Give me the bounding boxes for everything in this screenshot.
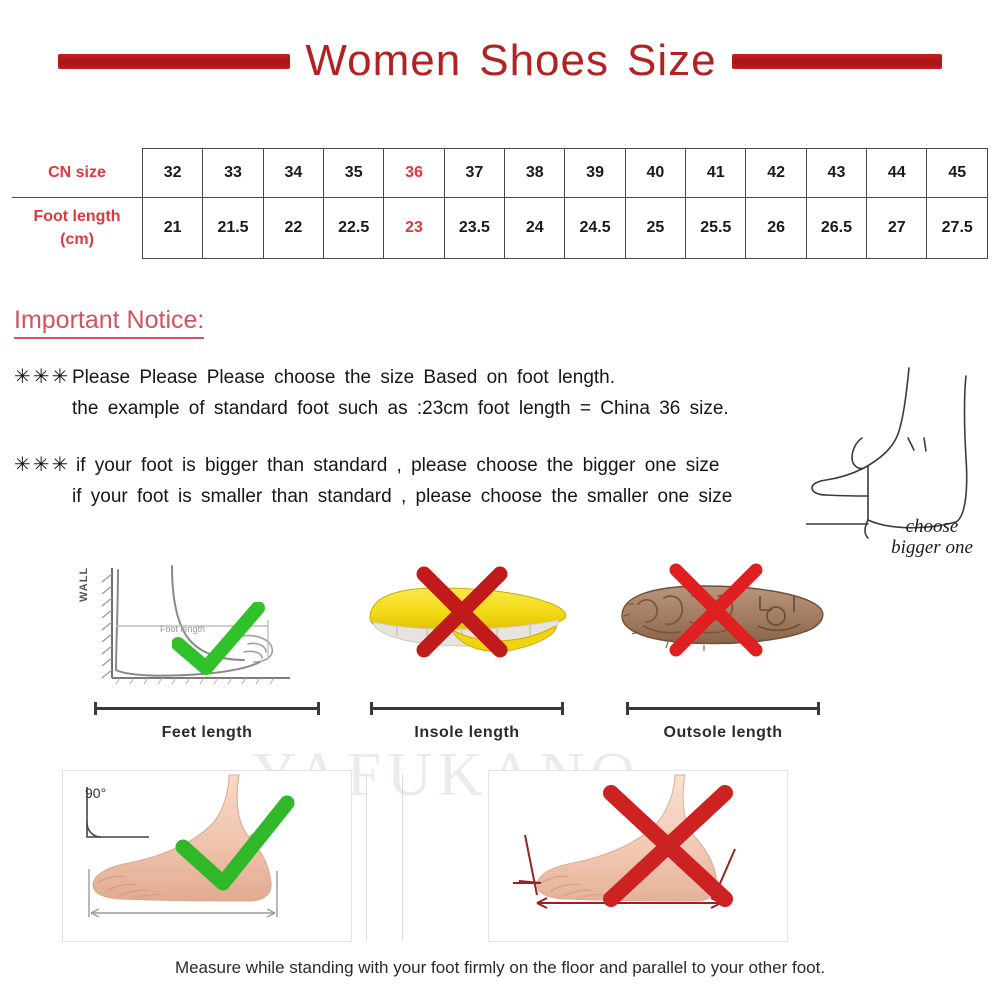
cell-cn-35: 35 xyxy=(324,149,384,198)
row-header-foot-length-line1: Foot length xyxy=(12,205,142,228)
sketch-caption-line1: choose xyxy=(862,516,1000,537)
panel-divider xyxy=(366,774,367,940)
wall-label: WALL xyxy=(78,567,90,602)
brown-outsole-icon xyxy=(608,560,838,680)
photo-incorrect-foot-position xyxy=(488,770,788,942)
cell-len-23: 23 xyxy=(384,198,444,259)
notice-group-2-line-1: ✳✳✳ if your foot is bigger than standard… xyxy=(14,450,844,481)
page-title: WomenShoesSize xyxy=(296,36,725,86)
size-chart-page: WomenShoesSize CN size 32 33 34 35 36 37… xyxy=(0,0,1000,1000)
measurement-diagrams: Foot length WALL Feet length xyxy=(0,560,1000,760)
table-row-foot-length: Foot length (cm) 21 21.5 22 22.5 23 23.5… xyxy=(12,198,988,259)
panel-divider xyxy=(402,774,403,940)
title-word-shoes: Shoes xyxy=(479,36,609,85)
measure-bar-feet xyxy=(94,702,321,714)
page-title-row: WomenShoesSize xyxy=(0,26,1000,96)
measure-bar-outsole xyxy=(626,702,819,714)
cell-cn-41: 41 xyxy=(686,149,746,198)
cell-len-21: 21 xyxy=(143,198,203,259)
bottom-caption: Measure while standing with your foot fi… xyxy=(0,958,1000,978)
cell-len-22: 22 xyxy=(263,198,323,259)
cell-len-25: 25 xyxy=(625,198,685,259)
yellow-insole-icon xyxy=(352,560,582,680)
cell-cn-43: 43 xyxy=(806,149,866,198)
cell-cn-36: 36 xyxy=(384,149,444,198)
notice-group-1-line-1: ✳✳✳ Please Please Please choose the size… xyxy=(14,362,844,393)
notice-text-1b: the example of standard foot such as :23… xyxy=(72,393,729,424)
cell-len-265: 26.5 xyxy=(806,198,866,259)
cell-len-245: 24.5 xyxy=(565,198,625,259)
diagram-insole-length: Insole length xyxy=(352,560,582,760)
notice-block: ✳✳✳ Please Please Please choose the size… xyxy=(14,362,844,512)
cell-cn-40: 40 xyxy=(625,149,685,198)
sketch-caption-line2: bigger one xyxy=(862,537,1000,558)
cell-cn-34: 34 xyxy=(263,149,323,198)
row-header-foot-length: Foot length (cm) xyxy=(12,198,143,259)
title-word-women: Women xyxy=(305,36,461,85)
title-word-size: Size xyxy=(627,36,717,85)
asterisk-icon: ✳✳✳ xyxy=(14,450,76,481)
important-notice-heading: Important Notice: xyxy=(14,306,204,339)
notice-text-2a: if your foot is bigger than standard , p… xyxy=(76,450,720,481)
angle-label-90: 90° xyxy=(85,785,106,801)
cell-len-235: 23.5 xyxy=(444,198,504,259)
diagram-feet-length: Foot length WALL Feet length xyxy=(72,560,342,760)
cell-cn-32: 32 xyxy=(143,149,203,198)
cell-cn-45: 45 xyxy=(927,149,988,198)
size-table: CN size 32 33 34 35 36 37 38 39 40 41 42… xyxy=(12,148,988,259)
cell-len-225: 22.5 xyxy=(324,198,384,259)
cell-cn-39: 39 xyxy=(565,149,625,198)
table-row-cn-size: CN size 32 33 34 35 36 37 38 39 40 41 42… xyxy=(12,149,988,198)
notice-text-2b: if your foot is smaller than standard , … xyxy=(72,481,732,512)
diagram-caption-outsole-length: Outsole length xyxy=(608,724,838,742)
cell-cn-37: 37 xyxy=(444,149,504,198)
row-header-foot-length-line2: (cm) xyxy=(12,228,142,251)
foot-side-view-icon xyxy=(63,771,351,941)
diagram-caption-feet-length: Feet length xyxy=(72,724,342,742)
cell-cn-44: 44 xyxy=(867,149,927,198)
cell-len-275: 27.5 xyxy=(927,198,988,259)
title-bar-left xyxy=(58,54,290,69)
svg-text:Foot length: Foot length xyxy=(160,624,205,634)
cell-cn-42: 42 xyxy=(746,149,806,198)
foot-against-wall-icon: Foot length xyxy=(72,560,342,710)
notice-group-1-line-2: the example of standard foot such as :23… xyxy=(14,393,844,424)
cell-len-27: 27 xyxy=(867,198,927,259)
asterisk-icon: ✳✳✳ xyxy=(14,362,72,393)
foot-side-view-icon xyxy=(489,771,787,941)
cell-len-255: 25.5 xyxy=(686,198,746,259)
diagram-outsole-length: Outsole length xyxy=(608,560,838,760)
sketch-caption: choose bigger one xyxy=(862,516,1000,558)
diagram-caption-insole-length: Insole length xyxy=(352,724,582,742)
title-bar-right xyxy=(732,54,942,69)
photo-correct-foot-position: 90° xyxy=(62,770,352,942)
cell-cn-38: 38 xyxy=(505,149,565,198)
cell-len-215: 21.5 xyxy=(203,198,263,259)
measure-bar-insole xyxy=(370,702,563,714)
cell-cn-33: 33 xyxy=(203,149,263,198)
row-header-cn-size: CN size xyxy=(12,149,143,198)
notice-group-2-line-2: if your foot is smaller than standard , … xyxy=(14,481,844,512)
cell-len-26: 26 xyxy=(746,198,806,259)
cell-len-24: 24 xyxy=(505,198,565,259)
notice-text-1a: Please Please Please choose the size Bas… xyxy=(72,362,615,393)
foot-position-examples: 90° xyxy=(0,770,1000,950)
